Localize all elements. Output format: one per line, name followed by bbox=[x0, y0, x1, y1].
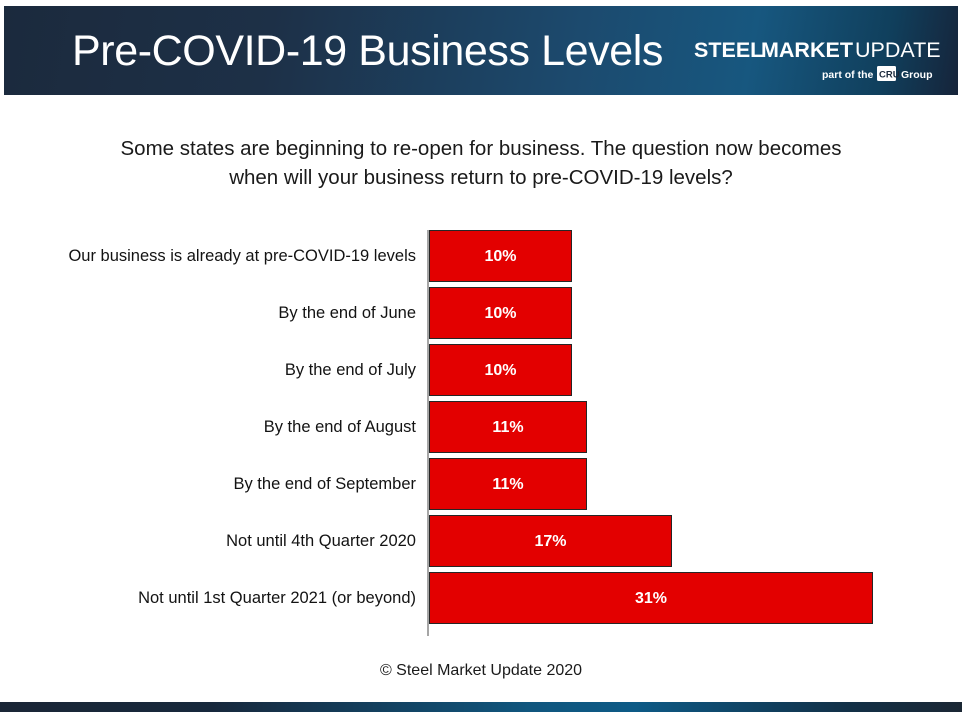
bar-wrapper: 10% bbox=[429, 344, 572, 396]
bar-rows-container: Our business is already at pre-COVID-19 … bbox=[0, 230, 962, 629]
bar-wrapper: 10% bbox=[429, 287, 572, 339]
copyright-text: © Steel Market Update 2020 bbox=[0, 662, 962, 680]
logo-word-market: MARKET bbox=[761, 38, 853, 62]
bar[interactable]: 10% bbox=[429, 230, 572, 282]
header-banner: Pre-COVID-19 Business Levels STEEL MARKE… bbox=[4, 6, 958, 95]
chart-row: By the end of August11% bbox=[0, 401, 962, 453]
category-label: By the end of July bbox=[285, 344, 416, 396]
chart-question-subtitle: Some states are beginning to re-open for… bbox=[120, 134, 842, 192]
category-label: By the end of September bbox=[233, 458, 416, 510]
bar-value-label: 17% bbox=[430, 516, 671, 568]
chart-row: Not until 4th Quarter 202017% bbox=[0, 515, 962, 567]
bar-value-label: 10% bbox=[430, 288, 571, 340]
bar-chart: Our business is already at pre-COVID-19 … bbox=[0, 222, 962, 642]
bar-wrapper: 17% bbox=[429, 515, 672, 567]
bar-value-label: 11% bbox=[430, 402, 586, 454]
logo-word-update: UPDATE bbox=[855, 38, 941, 62]
bar-value-label: 10% bbox=[430, 231, 571, 283]
slide-canvas: Pre-COVID-19 Business Levels STEEL MARKE… bbox=[0, 0, 962, 712]
logo-tagline-suffix: Group bbox=[901, 69, 933, 81]
bar[interactable]: 10% bbox=[429, 287, 572, 339]
category-label: By the end of June bbox=[278, 287, 416, 339]
bar-wrapper: 11% bbox=[429, 458, 587, 510]
bar[interactable]: 10% bbox=[429, 344, 572, 396]
bar[interactable]: 31% bbox=[429, 572, 873, 624]
bar[interactable]: 11% bbox=[429, 458, 587, 510]
chart-row: Our business is already at pre-COVID-19 … bbox=[0, 230, 962, 282]
category-label: Our business is already at pre-COVID-19 … bbox=[68, 230, 416, 282]
logo-tagline-prefix: part of the bbox=[822, 69, 873, 81]
logo-tagline-badge: CRU bbox=[879, 70, 900, 81]
category-label: Not until 1st Quarter 2021 (or beyond) bbox=[138, 572, 416, 624]
steel-market-update-logo: STEEL MARKET UPDATE part of the CRU Grou… bbox=[686, 12, 944, 92]
chart-row: By the end of September11% bbox=[0, 458, 962, 510]
bar-wrapper: 10% bbox=[429, 230, 572, 282]
bar[interactable]: 11% bbox=[429, 401, 587, 453]
bar-value-label: 11% bbox=[430, 459, 586, 511]
category-label: By the end of August bbox=[264, 401, 416, 453]
page-title: Pre-COVID-19 Business Levels bbox=[72, 20, 663, 82]
footer-band bbox=[0, 702, 962, 712]
logo-word-steel: STEEL bbox=[694, 38, 763, 62]
bar[interactable]: 17% bbox=[429, 515, 672, 567]
chart-row: Not until 1st Quarter 2021 (or beyond)31… bbox=[0, 572, 962, 624]
chart-row: By the end of July10% bbox=[0, 344, 962, 396]
bar-value-label: 31% bbox=[430, 573, 872, 625]
chart-row: By the end of June10% bbox=[0, 287, 962, 339]
category-label: Not until 4th Quarter 2020 bbox=[226, 515, 416, 567]
bar-value-label: 10% bbox=[430, 345, 571, 397]
bar-wrapper: 31% bbox=[429, 572, 873, 624]
bar-wrapper: 11% bbox=[429, 401, 587, 453]
